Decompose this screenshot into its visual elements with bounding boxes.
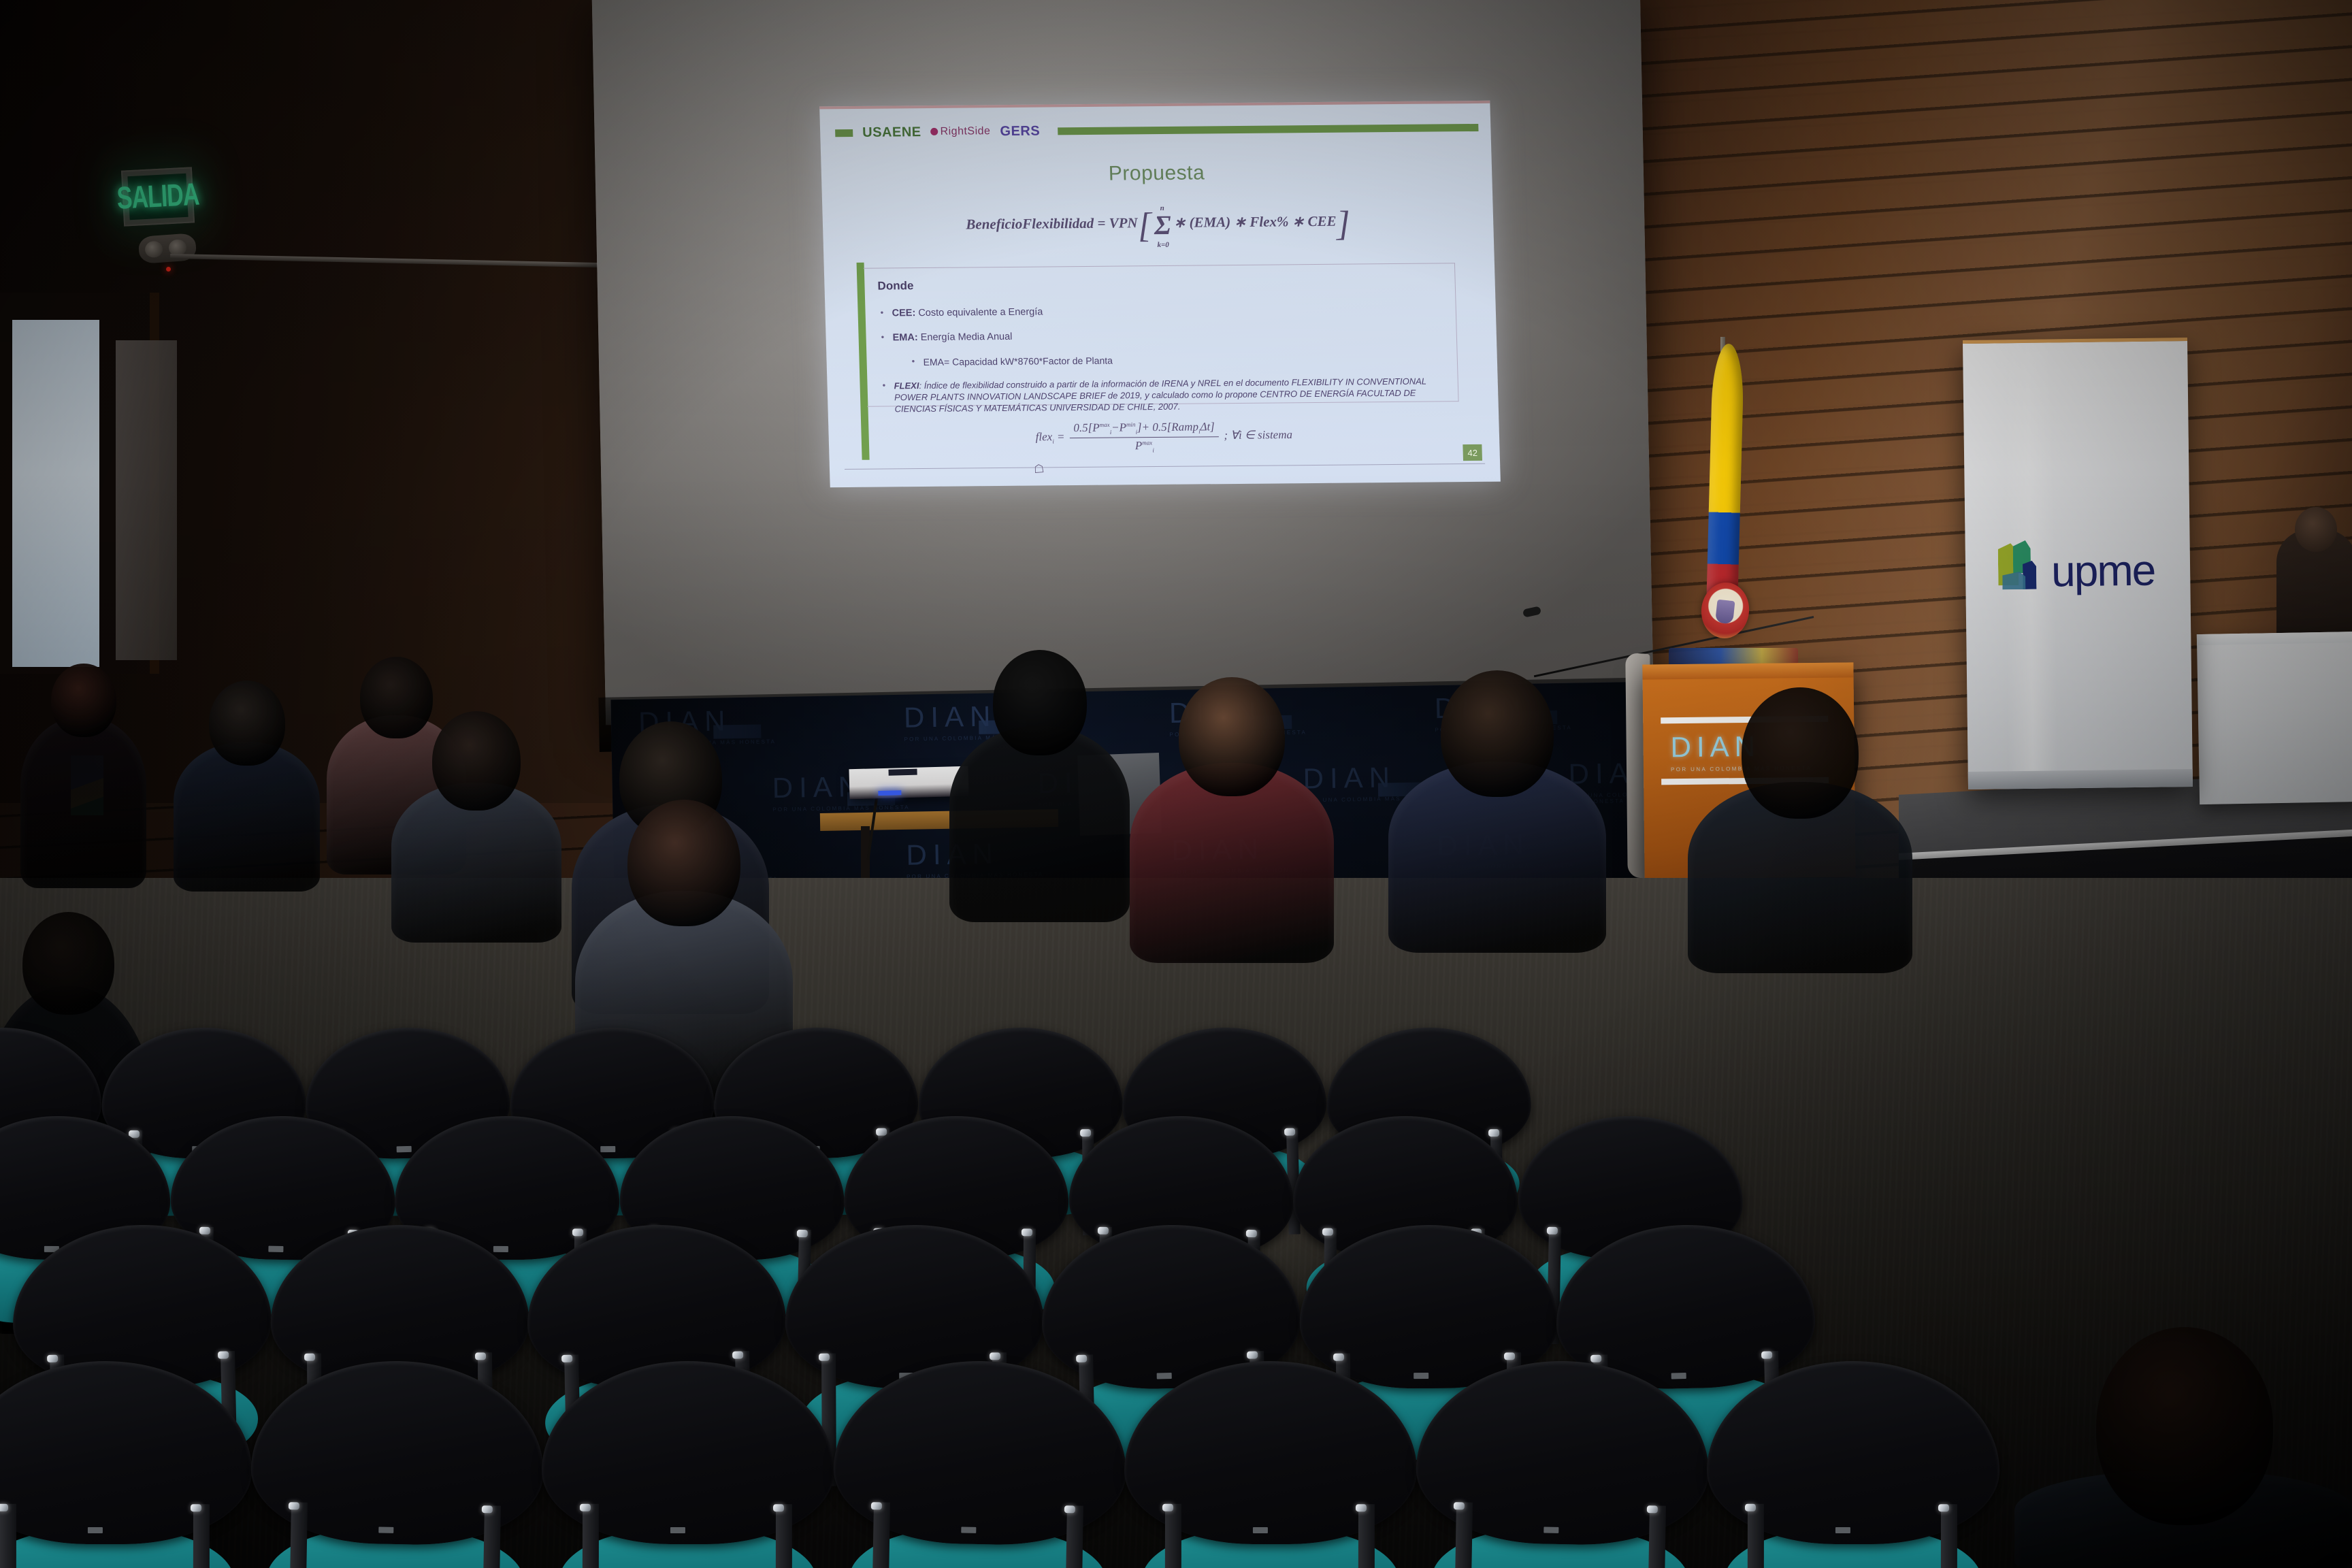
chair-chrome-cap bbox=[990, 1352, 1000, 1360]
projector-led-indicator bbox=[878, 790, 901, 796]
flex-denominator: Pmaxi bbox=[1070, 437, 1220, 454]
projected-slide: USAENE RightSide GERS Propuesta Benefici… bbox=[819, 101, 1501, 487]
draped-head-table bbox=[2197, 632, 2352, 804]
chair-leg bbox=[1647, 1505, 1666, 1568]
door-panel bbox=[116, 340, 177, 660]
chair-leg bbox=[871, 1502, 890, 1568]
exit-sign: SALIDA bbox=[121, 167, 195, 226]
audience-chair bbox=[1413, 1358, 1710, 1568]
slide-page-number: 42 bbox=[1463, 444, 1482, 461]
audience-member-head bbox=[22, 912, 114, 1015]
flex-num-minus: − bbox=[1111, 421, 1120, 434]
bullet-ema-sub: EMA= Capacidad kW*8760*Factor de Planta bbox=[908, 352, 1450, 369]
conference-room-photo: SALIDA USAENE RightSide GERS Propuesta B… bbox=[0, 0, 2352, 1568]
formula-terms: ∗ (EMA) ∗ Flex% ∗ CEE bbox=[1173, 213, 1337, 231]
flex-den-sub: i bbox=[1152, 446, 1154, 453]
audience-member bbox=[1388, 670, 1606, 953]
logo-gers: GERS bbox=[1000, 123, 1040, 140]
bullet-flexi-text: Índice de flexibilidad construido a part… bbox=[894, 376, 1426, 414]
formula-eq: = bbox=[1097, 215, 1106, 231]
audience-member bbox=[20, 664, 146, 888]
bullet-flexi-term: FLEXI bbox=[894, 380, 919, 391]
chair-label-tag bbox=[88, 1527, 103, 1533]
audience-member bbox=[949, 650, 1130, 922]
chair-leg bbox=[1358, 1504, 1375, 1568]
chair-backrest bbox=[0, 1361, 252, 1545]
chair-chrome-cap bbox=[1247, 1351, 1258, 1358]
chair-chrome-cap bbox=[1356, 1504, 1367, 1512]
audience-member-torso bbox=[20, 717, 146, 888]
slide-title: Propuesta bbox=[821, 159, 1492, 189]
banner-base bbox=[1968, 769, 2193, 789]
audience-member-head bbox=[1441, 670, 1554, 797]
upme-rollup-banner: upme bbox=[1963, 338, 2193, 789]
slide-formula-main: BeneficioFlexibilidad = VPN[nΣk=0∗ (EMA)… bbox=[822, 203, 1494, 249]
chair-chrome-cap bbox=[1454, 1502, 1465, 1509]
chair-chrome-cap bbox=[773, 1504, 784, 1512]
chair-chrome-cap bbox=[1745, 1504, 1756, 1512]
slide-logo-bar: USAENE RightSide GERS bbox=[835, 118, 1479, 142]
flex-num-a: 0.5 bbox=[1073, 421, 1088, 434]
formula-lhs: BeneficioFlexibilidad bbox=[966, 215, 1094, 233]
chair-chrome-cap bbox=[289, 1502, 299, 1509]
audience-member-head bbox=[1179, 677, 1285, 796]
upme-wordmark: upme bbox=[2051, 554, 2155, 589]
bullet-flexi: FLEXI: Índice de flexibilidad construido… bbox=[879, 376, 1451, 415]
flex-eq: = bbox=[1057, 430, 1065, 443]
bullet-ema: EMA: Energía Media Anual bbox=[877, 327, 1449, 344]
bullet-ema-term: EMA bbox=[892, 332, 915, 343]
flex-num-c: P bbox=[1119, 421, 1126, 434]
exit-sign-label: SALIDA bbox=[116, 177, 199, 217]
rightside-dot-icon bbox=[930, 128, 938, 135]
chair-chrome-cap bbox=[0, 1504, 8, 1512]
chair-label-tag bbox=[1543, 1527, 1558, 1533]
open-doorway bbox=[12, 320, 99, 667]
chair-leg bbox=[776, 1504, 792, 1568]
flex-num-plus: + 0.5 bbox=[1141, 421, 1167, 434]
chair-leg bbox=[289, 1502, 308, 1568]
chair-chrome-cap bbox=[732, 1351, 743, 1358]
chair-leg bbox=[1748, 1504, 1764, 1568]
formula-summation-icon: nΣk=0 bbox=[1154, 214, 1172, 238]
flex-fraction: 0.5[Pmaxi−Pmini]+ 0.5[RampiΔt] Pmaxi bbox=[1069, 420, 1220, 454]
chair-chrome-cap bbox=[1938, 1504, 1949, 1512]
chair-label-tag bbox=[670, 1527, 685, 1533]
logo-rightside: RightSide bbox=[930, 125, 990, 138]
chair-chrome-cap bbox=[475, 1352, 486, 1360]
chair-leg bbox=[1064, 1505, 1083, 1568]
logo-usaene: USAENE bbox=[862, 125, 921, 141]
slide-bullet-list: CEE: Costo equivalente a Energía EMA: En… bbox=[877, 302, 1451, 427]
chair-leg bbox=[1941, 1504, 1957, 1568]
chair-chrome-cap bbox=[1333, 1354, 1344, 1361]
flex-num-d: Ramp bbox=[1171, 421, 1198, 434]
audience-chair bbox=[1124, 1361, 1418, 1568]
logo-rightside-label: RightSide bbox=[940, 125, 990, 137]
audience-member-head bbox=[2096, 1327, 2273, 1525]
formula-bracket-open: [ bbox=[1137, 206, 1152, 245]
pointer-cursor-icon: ☖ bbox=[1033, 462, 1045, 476]
chair-leg bbox=[1165, 1504, 1181, 1568]
chair-chrome-cap bbox=[1504, 1352, 1515, 1360]
chair-chrome-cap bbox=[482, 1505, 493, 1513]
sigma-glyph: Σ bbox=[1154, 210, 1171, 240]
flex-num-c-sup: min bbox=[1126, 421, 1136, 428]
donde-label: Donde bbox=[877, 279, 913, 293]
audience-member bbox=[391, 711, 561, 943]
audience-member-head bbox=[51, 664, 116, 737]
chair-chrome-cap bbox=[580, 1504, 591, 1512]
flex-qualifier: ; ∀i ∈ sistema bbox=[1224, 428, 1292, 442]
formula-vpn: VPN bbox=[1109, 214, 1138, 231]
chair-chrome-cap bbox=[819, 1354, 830, 1361]
chair-label-tag bbox=[378, 1527, 393, 1533]
chair-leg bbox=[1454, 1502, 1473, 1568]
flex-den: P bbox=[1135, 439, 1143, 452]
emergency-light-indicator bbox=[166, 267, 171, 272]
chair-leg bbox=[583, 1504, 599, 1568]
audience-chair bbox=[1707, 1361, 2000, 1568]
bullet-cee-text: Costo equivalente a Energía bbox=[915, 307, 1043, 319]
flex-num-b-sup: max bbox=[1099, 421, 1109, 428]
flex-den-sup: max bbox=[1142, 439, 1152, 446]
audience-member bbox=[174, 681, 320, 892]
audience-chair bbox=[248, 1358, 545, 1568]
exit-sign-glow: SALIDA bbox=[127, 174, 188, 220]
flex-numerator: 0.5[Pmaxi−Pmini]+ 0.5[RampiΔt] bbox=[1069, 420, 1219, 438]
slide-bar-left bbox=[835, 129, 853, 136]
chair-leg bbox=[0, 1504, 16, 1568]
audience-member bbox=[1688, 687, 1912, 973]
flex-lhs: flex bbox=[1035, 430, 1052, 443]
audience-member-head bbox=[432, 711, 521, 811]
flex-num-b: P bbox=[1092, 421, 1100, 434]
upme-logo: upme bbox=[1998, 539, 2155, 590]
upme-mark-icon bbox=[1998, 540, 2042, 590]
chair-chrome-cap bbox=[1076, 1355, 1087, 1362]
sum-upper-limit: n bbox=[1160, 204, 1164, 212]
chair-leg bbox=[482, 1505, 501, 1568]
audience-member-head bbox=[627, 800, 740, 926]
audience-chair bbox=[542, 1361, 835, 1568]
audience-chair bbox=[0, 1361, 252, 1568]
sum-lower-limit: k=0 bbox=[1157, 241, 1169, 249]
emergency-light bbox=[138, 233, 197, 264]
podium-top-strip bbox=[1642, 662, 1853, 679]
flex-num-dt: Δt bbox=[1200, 421, 1210, 434]
chair-chrome-cap bbox=[218, 1351, 229, 1358]
projector-lens-icon bbox=[888, 769, 917, 776]
audience-member-head bbox=[1742, 687, 1859, 819]
chair-chrome-cap bbox=[1162, 1504, 1173, 1512]
chair-label-tag bbox=[1253, 1527, 1268, 1533]
chair-label-tag bbox=[961, 1527, 976, 1533]
chair-chrome-cap bbox=[1064, 1505, 1075, 1513]
chair-label-tag bbox=[1835, 1527, 1850, 1533]
chair-chrome-cap bbox=[1647, 1505, 1658, 1513]
audience-member-head bbox=[209, 681, 285, 766]
flex-num-c-sub: i bbox=[1136, 429, 1138, 436]
formula-bracket-close: ] bbox=[1336, 205, 1351, 244]
chair-chrome-cap bbox=[191, 1504, 201, 1512]
bullet-cee-term: CEE bbox=[892, 308, 912, 318]
person-on-stage-head bbox=[2295, 507, 2337, 552]
audience-member-torso bbox=[949, 726, 1130, 922]
audience-chair bbox=[830, 1358, 1128, 1568]
audience-member bbox=[1130, 677, 1334, 963]
slide-bar-right bbox=[1058, 123, 1478, 134]
audience-member-head bbox=[993, 650, 1087, 755]
bullet-ema-text: Energía Media Anual bbox=[918, 331, 1013, 343]
chair-leg bbox=[193, 1504, 210, 1568]
slide-formula-bottom: flexi = 0.5[Pmaxi−Pmini]+ 0.5[RampiΔt] P… bbox=[828, 418, 1499, 456]
chair-chrome-cap bbox=[1761, 1351, 1772, 1358]
slide-footer-rule bbox=[845, 463, 1485, 470]
bullet-ema-sub-text: EMA= Capacidad kW*8760*Factor de Planta bbox=[923, 355, 1113, 367]
chair-chrome-cap bbox=[871, 1502, 882, 1509]
audience-member bbox=[2014, 1327, 2352, 1568]
flex-lhs-sub: i bbox=[1052, 438, 1054, 445]
